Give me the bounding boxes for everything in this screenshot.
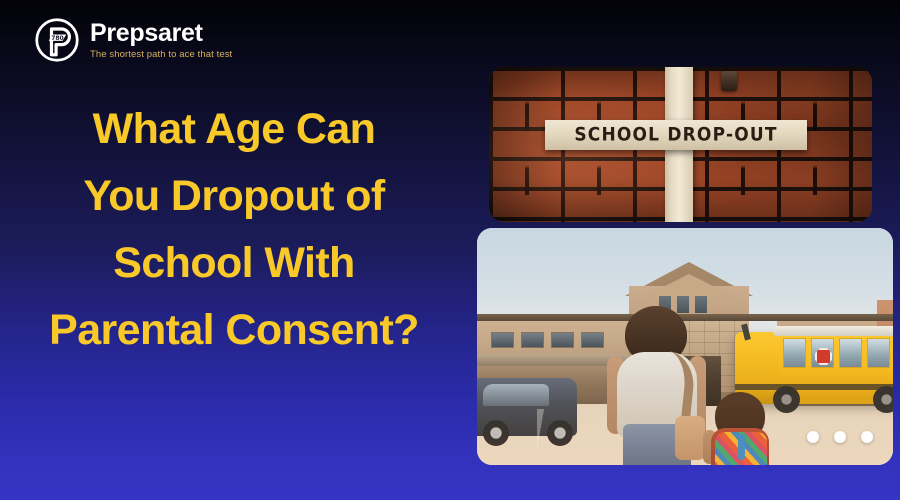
brand-tagline: The shortest path to ace that test — [90, 49, 232, 60]
suv-wheel — [483, 420, 509, 446]
school-upper-window — [695, 296, 707, 313]
school-dropout-sign-photo: SCHOOL DROP-OUT — [489, 67, 872, 222]
school-window — [521, 332, 544, 348]
brand-logo[interactable]: 780 Prepsaret The shortest path to ace t… — [34, 17, 232, 63]
sign-bolt — [721, 71, 737, 91]
headline-line-2: You Dropout of — [0, 163, 468, 230]
suv-window — [483, 384, 549, 406]
school-window — [491, 332, 514, 348]
carousel-indicator[interactable] — [807, 431, 873, 443]
headline-line-1: What Age Can — [0, 96, 468, 163]
window-row-left — [491, 332, 604, 348]
school-bus-wheel — [873, 386, 893, 413]
school-roof-gable-inner — [637, 274, 741, 300]
school-bus-wheel — [773, 386, 800, 413]
prepsaret-circle-p-logo-icon: 780 — [34, 17, 80, 63]
school-window — [581, 332, 604, 348]
brand-name: Prepsaret — [90, 20, 232, 47]
headline-line-3: School With — [0, 230, 468, 297]
school-bus-stripe — [735, 384, 893, 390]
sign-text: SCHOOL DROP-OUT — [545, 118, 807, 152]
school-walk-photo — [477, 228, 893, 465]
carousel-dot-3[interactable] — [861, 431, 873, 443]
school-bus-window — [867, 338, 890, 368]
school-upper-window — [677, 296, 689, 313]
page-title: What Age Can You Dropout of School With … — [0, 96, 468, 364]
poster-canvas: 780 Prepsaret The shortest path to ace t… — [0, 0, 900, 500]
carousel-dot-1[interactable] — [807, 431, 819, 443]
school-bus-window — [839, 338, 862, 368]
carousel-dot-2[interactable] — [834, 431, 846, 443]
school-bus-roof — [773, 326, 893, 336]
school-window — [551, 332, 574, 348]
headline-line-4: Parental Consent? — [0, 297, 468, 364]
school-roof-line — [477, 314, 893, 321]
brand-text-block: Prepsaret The shortest path to ace that … — [90, 20, 232, 60]
svg-text:780: 780 — [51, 35, 63, 42]
parent-purse — [675, 416, 705, 460]
school-bus-window-row — [783, 338, 893, 368]
child-backpack-strap — [738, 434, 745, 460]
school-bus-window — [783, 338, 806, 368]
